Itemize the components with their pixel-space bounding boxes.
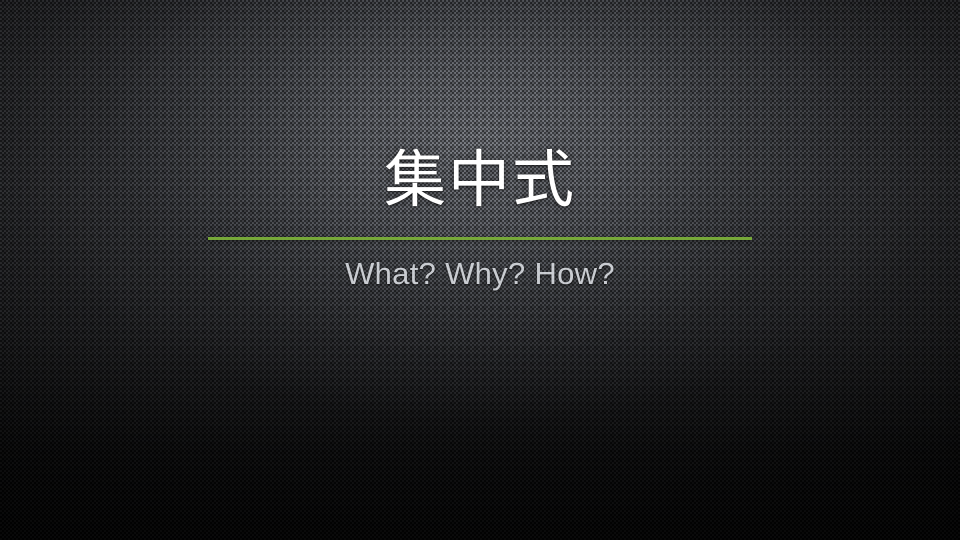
title-slide: 集中式 What? Why? How? <box>0 0 960 540</box>
slide-content: 集中式 What? Why? How? <box>0 0 960 540</box>
slide-subtitle: What? Why? How? <box>0 254 960 294</box>
slide-title: 集中式 <box>0 142 960 220</box>
title-divider-rule <box>208 237 752 240</box>
